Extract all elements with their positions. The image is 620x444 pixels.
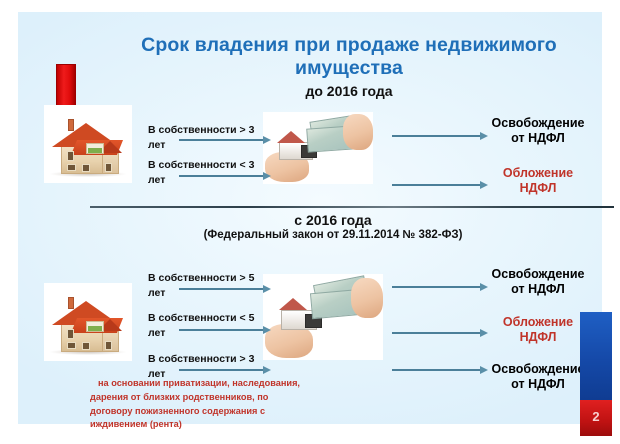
exchange-photo-top: [263, 112, 373, 184]
title-line-2: имущества: [114, 57, 584, 80]
page-title: Срок владения при продаже недвижимого им…: [114, 34, 584, 99]
section-divider: [90, 206, 614, 208]
title-subtitle: до 2016 года: [114, 83, 584, 99]
page-number-badge: 2: [580, 312, 612, 436]
badge-blue-block: [580, 312, 612, 400]
footnote-line-2: дарения от близких родственников, по: [90, 391, 340, 405]
condition-after-2016-row-2: В собственности < 5 лет: [148, 311, 268, 341]
condition-before-2016-row-2: В собственности < 3 лет: [148, 158, 268, 188]
condition-before-2016-row-1: В собственности > 3 лет: [148, 123, 268, 153]
outcome-after-2016-row-3: Освобождение от НДФЛ: [484, 362, 592, 391]
section-heading-after-2016: с 2016 года (Федеральный закон от 29.11.…: [168, 212, 498, 243]
title-line-1: Срок владения при продаже недвижимого: [114, 34, 584, 57]
footnote-line-4: иждивением (рента): [90, 418, 340, 432]
footnote-line-1: на основании приватизации, наследования,: [90, 377, 340, 391]
condition-after-2016-row-1: В собственности > 5 лет: [148, 271, 268, 301]
footnote-line-3: договору пожизненного содержания с: [90, 405, 340, 419]
outcome-after-2016-row-1: Освобождение от НДФЛ: [484, 267, 592, 296]
after-2016-law-label: (Федеральный закон от 29.11.2014 № 382-Ф…: [168, 229, 498, 243]
outcome-before-2016-row-1: Освобождение от НДФЛ: [484, 116, 592, 145]
after-2016-year-label: с 2016 года: [168, 212, 498, 228]
outcome-before-2016-row-2: Обложение НДФЛ: [484, 166, 592, 195]
footnote-red-text: на основании приватизации, наследования,…: [90, 377, 340, 432]
slide-canvas: Срок владения при продаже недвижимого им…: [18, 12, 602, 424]
slide: Срок владения при продаже недвижимого им…: [0, 0, 620, 444]
exchange-photo-bottom: [263, 274, 383, 360]
outcome-after-2016-row-2: Обложение НДФЛ: [484, 315, 592, 344]
house-photo-bottom: [44, 283, 132, 361]
house-photo-top: [44, 105, 132, 183]
badge-page-number: 2: [580, 400, 612, 436]
